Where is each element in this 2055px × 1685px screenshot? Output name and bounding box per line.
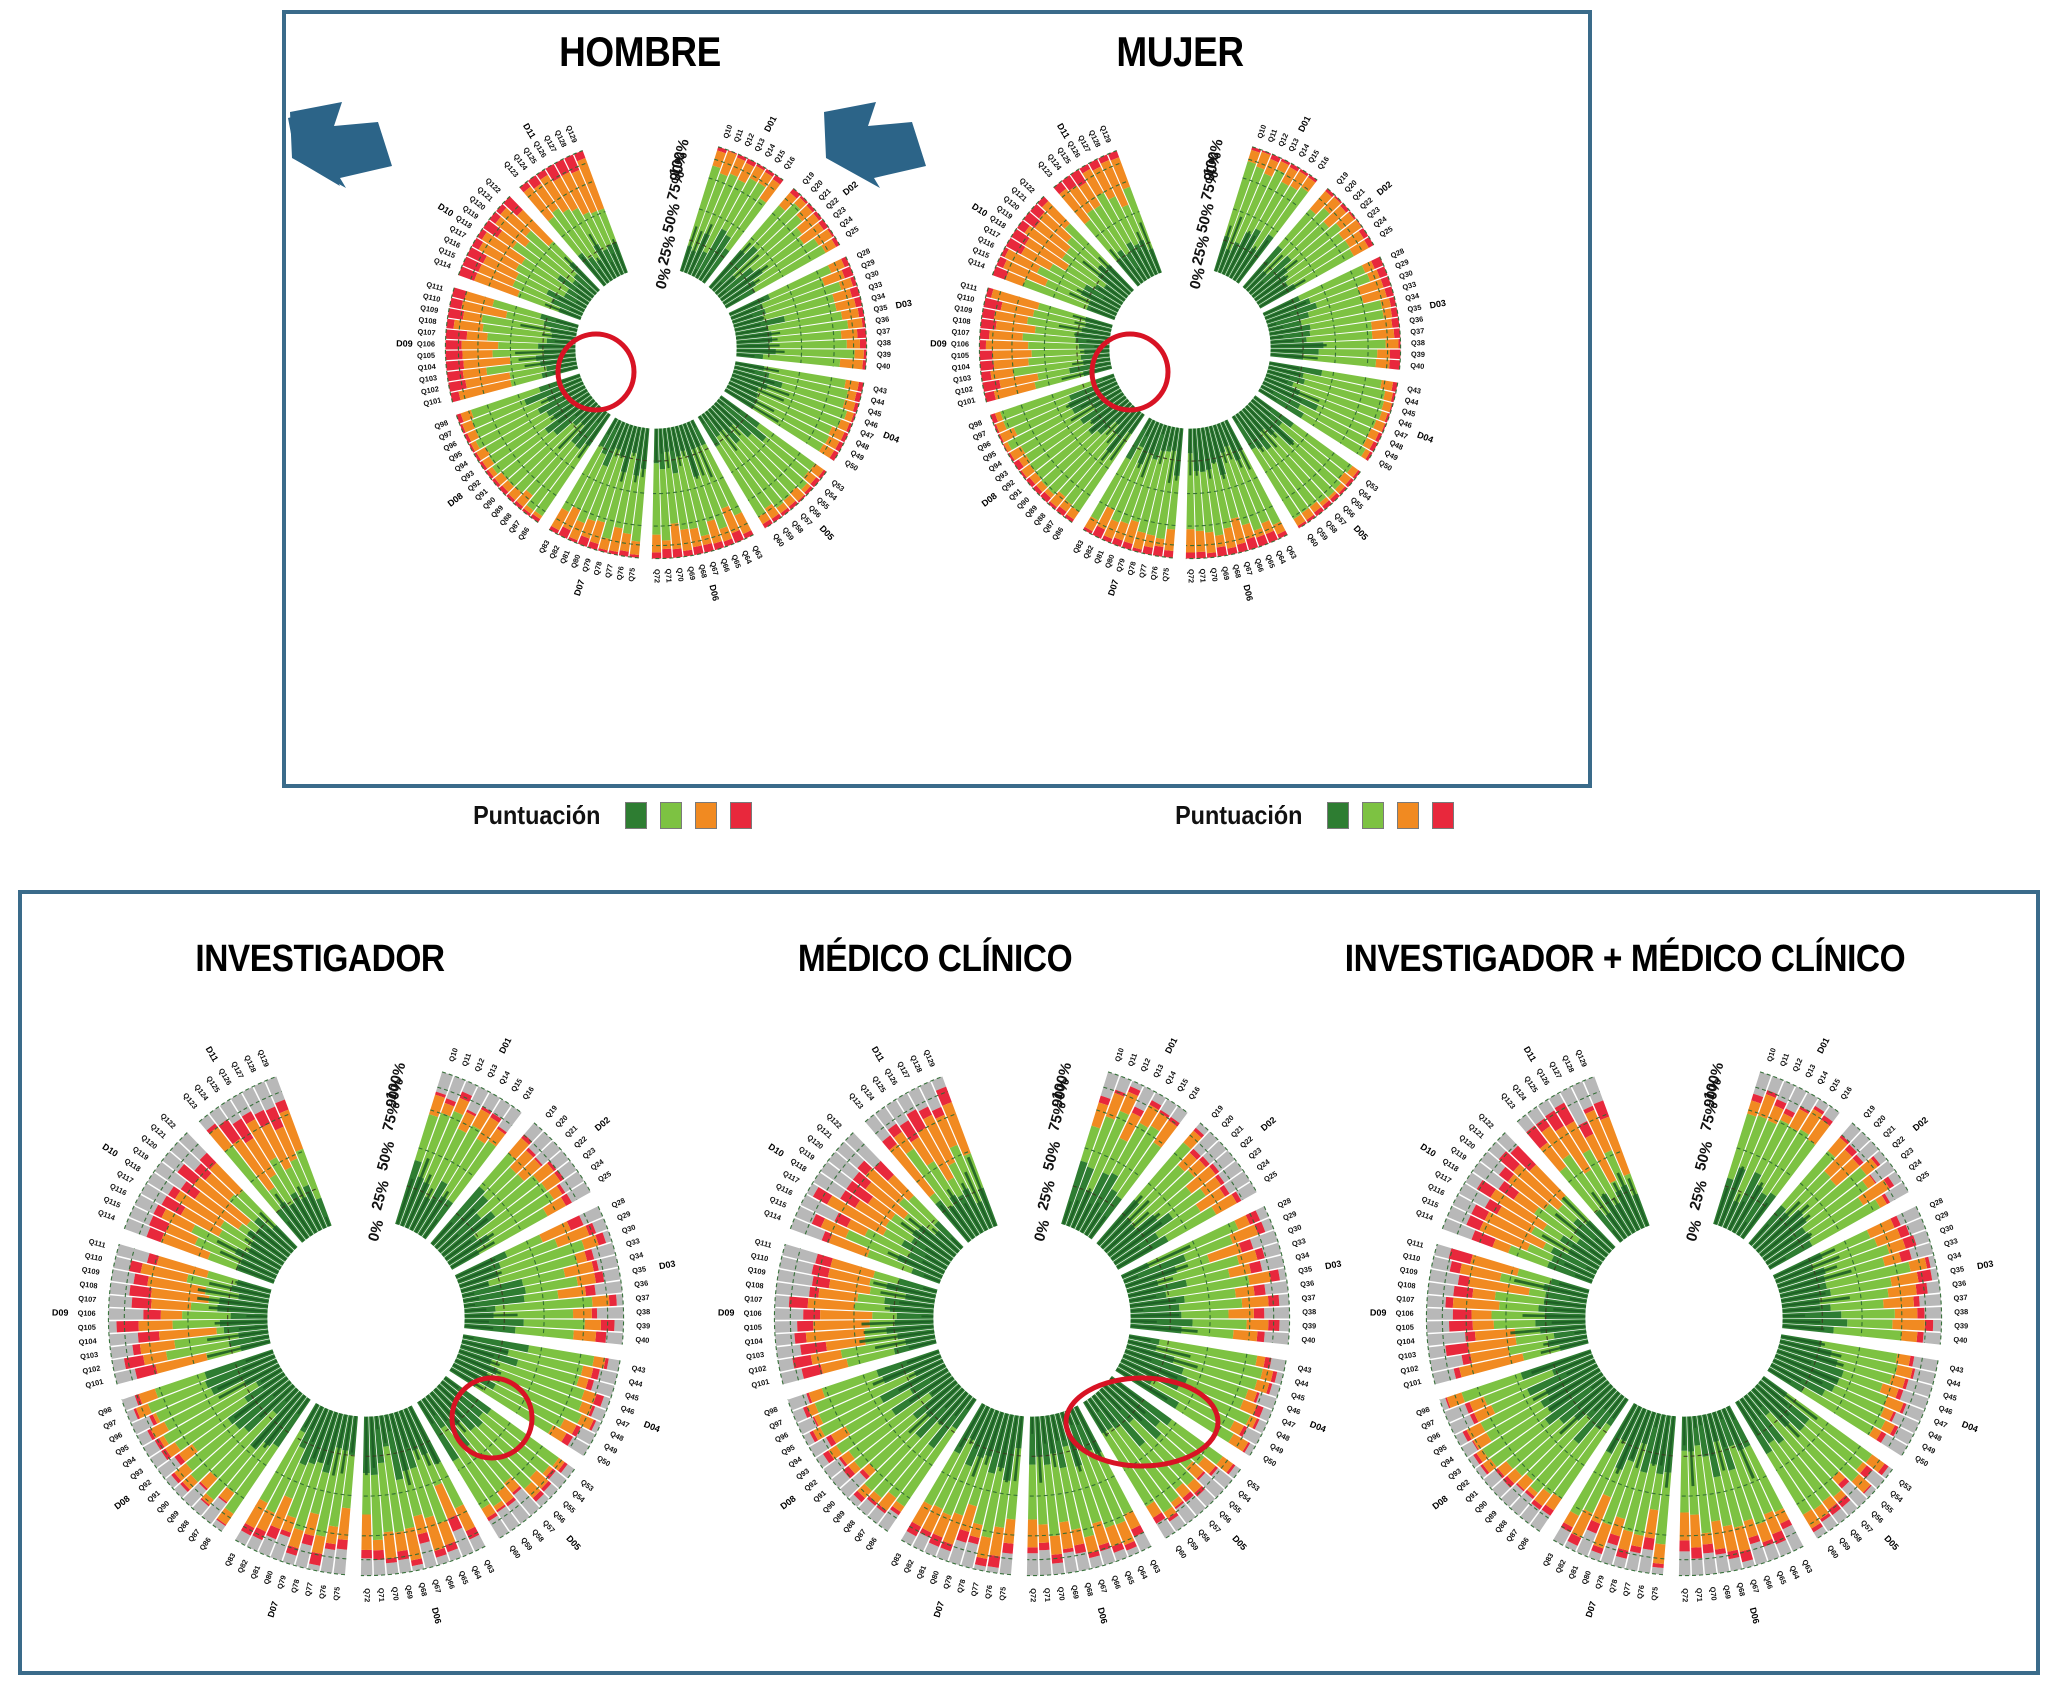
question-label: Q65 — [1123, 1569, 1136, 1585]
question-label: Q44 — [1404, 395, 1421, 407]
question-label: Q34 — [628, 1250, 644, 1262]
question-label: Q104 — [744, 1336, 764, 1347]
domain-label: D11 — [870, 1045, 887, 1064]
domain-label: D07 — [572, 578, 587, 597]
domain-label: D02 — [1375, 179, 1394, 197]
question-label: Q75 — [1161, 567, 1171, 582]
question-label: Q92 — [1455, 1477, 1472, 1493]
radial-chart-svg: Q10Q11Q12Q13Q14Q15Q16Q19Q20Q21Q22Q23Q24Q… — [1366, 1000, 2002, 1636]
question-label: Q115 — [102, 1194, 122, 1209]
question-label: Q49 — [1268, 1441, 1285, 1456]
question-label: Q65 — [457, 1569, 470, 1585]
radial-chart-svg: Q10Q11Q12Q13Q14Q15Q16Q19Q20Q21Q22Q23Q24Q… — [48, 1000, 684, 1636]
question-label: Q25 — [1262, 1169, 1279, 1184]
question-label: Q79 — [275, 1574, 288, 1590]
domain-label: D07 — [1584, 1600, 1599, 1619]
question-label: Q72 — [1681, 1588, 1690, 1602]
question-label: Q64 — [1136, 1564, 1150, 1581]
question-label: Q20 — [553, 1113, 569, 1129]
question-label: Q89 — [1483, 1509, 1499, 1525]
question-label: Q45 — [1401, 406, 1417, 419]
question-label: Q107 — [417, 327, 436, 337]
question-label: Q89 — [831, 1509, 847, 1525]
question-label: Q49 — [602, 1441, 619, 1456]
question-label: Q35 — [1297, 1264, 1312, 1275]
question-label: Q117 — [1433, 1169, 1453, 1186]
question-label: Q55 — [1879, 1499, 1895, 1515]
question-label: Q105 — [417, 351, 435, 361]
radial-axis-tick: 50% — [1692, 1139, 1717, 1173]
question-label: Q98 — [1415, 1405, 1431, 1418]
question-label: Q34 — [1294, 1250, 1310, 1262]
radial-axis-tick: 50% — [374, 1139, 399, 1173]
domain-label: D02 — [841, 179, 860, 197]
question-label: Q30 — [864, 268, 880, 281]
question-label: Q19 — [1861, 1103, 1877, 1119]
question-label: Q36 — [1409, 314, 1424, 325]
question-label: Q106 — [744, 1309, 762, 1318]
question-label: Q23 — [1247, 1145, 1264, 1161]
question-label: Q109 — [420, 303, 439, 315]
question-label: Q22 — [1890, 1134, 1907, 1150]
question-label: Q39 — [1954, 1321, 1968, 1330]
question-label: Q90 — [821, 1499, 837, 1515]
question-label: Q107 — [78, 1294, 97, 1304]
question-label: Q101 — [423, 395, 443, 408]
question-label: Q66 — [1110, 1574, 1123, 1590]
question-label: Q66 — [1762, 1574, 1775, 1590]
question-label: Q77 — [1137, 563, 1149, 579]
question-label: Q78 — [592, 561, 604, 577]
question-label: Q91 — [1463, 1488, 1479, 1504]
question-label: Q36 — [1300, 1278, 1315, 1289]
question-label: Q70 — [1056, 1586, 1066, 1601]
domain-label: D06 — [707, 584, 721, 602]
domain-label: D04 — [1960, 1419, 1979, 1434]
question-label: Q102 — [82, 1363, 101, 1375]
domain-label: D11 — [1055, 121, 1072, 140]
question-label: Q53 — [1897, 1477, 1914, 1493]
question-label: Q72 — [653, 569, 662, 583]
question-label: Q23 — [581, 1145, 598, 1161]
question-label: Q108 — [745, 1279, 764, 1290]
question-label: Q68 — [1083, 1582, 1095, 1598]
radial-axis-tick: 50% — [1193, 201, 1218, 235]
question-label: Q96 — [773, 1430, 790, 1444]
question-label: Q93 — [1446, 1466, 1463, 1481]
question-label: Q19 — [1209, 1103, 1225, 1119]
radial-chart-svg: Q10Q11Q12Q13Q14Q15Q16Q19Q20Q21Q22Q23Q24Q… — [930, 88, 1450, 608]
question-label: Q78 — [1607, 1578, 1619, 1594]
question-label: Q106 — [1396, 1309, 1414, 1318]
question-label: Q12 — [1791, 1057, 1805, 1073]
question-label: Q64 — [470, 1564, 484, 1581]
question-label: Q39 — [1302, 1321, 1316, 1330]
question-label: Q95 — [780, 1443, 797, 1458]
radial-axis-tick: 25% — [655, 234, 680, 268]
question-label: Q46 — [1285, 1403, 1301, 1416]
legend-swatch-light-green — [660, 802, 682, 829]
question-label: Q128 — [242, 1054, 258, 1074]
question-label: Q127 — [895, 1060, 911, 1080]
question-label: Q55 — [1227, 1499, 1243, 1515]
question-label: Q67 — [1097, 1578, 1109, 1594]
question-label: Q82 — [901, 1558, 915, 1575]
question-label: Q72 — [363, 1588, 372, 1602]
question-label: Q104 — [1396, 1336, 1416, 1347]
question-label: Q104 — [78, 1336, 98, 1347]
question-label: Q60 — [1826, 1543, 1841, 1560]
question-label: Q23 — [1899, 1145, 1916, 1161]
domain-label: D10 — [970, 201, 989, 218]
question-label: Q28 — [1928, 1196, 1944, 1210]
question-label: Q54 — [1888, 1488, 1905, 1504]
question-label: Q24 — [1255, 1157, 1272, 1173]
question-label: Q30 — [1939, 1222, 1955, 1235]
question-label: Q28 — [610, 1196, 626, 1210]
domain-label: D01 — [1815, 1036, 1831, 1055]
question-label: Q96 — [107, 1430, 124, 1444]
question-label: Q103 — [80, 1350, 99, 1361]
circular-chart-medico-clinico[interactable]: Q10Q11Q12Q13Q14Q15Q16Q19Q20Q21Q22Q23Q24Q… — [714, 1000, 1350, 1636]
question-label: Q80 — [262, 1569, 275, 1585]
domain-label: D01 — [1163, 1036, 1179, 1055]
question-label: Q11 — [1778, 1052, 1791, 1068]
domain-label: D09 — [930, 338, 947, 348]
question-label: Q54 — [570, 1488, 587, 1504]
domain-label: D01 — [762, 114, 778, 133]
question-label: Q59 — [1185, 1536, 1200, 1553]
question-label: Q13 — [1803, 1063, 1817, 1080]
question-label: Q129 — [256, 1048, 271, 1068]
question-label: Q71 — [1042, 1588, 1052, 1602]
question-label: Q68 — [1231, 563, 1243, 579]
question-label: Q76 — [1149, 566, 1160, 581]
question-label: Q65 — [1775, 1569, 1788, 1585]
question-label: Q79 — [1593, 1574, 1606, 1590]
radial-axis-tick: 50% — [659, 201, 684, 235]
domain-label: D05 — [564, 1533, 583, 1552]
question-label: Q79 — [580, 557, 593, 573]
question-label: Q14 — [1163, 1069, 1178, 1086]
question-label: Q88 — [1493, 1518, 1509, 1534]
question-label: Q24 — [1907, 1157, 1924, 1173]
domain-label: D04 — [1416, 430, 1435, 445]
question-label: Q107 — [951, 327, 970, 337]
question-label: Q91 — [145, 1488, 161, 1504]
circular-chart-investigador-medico[interactable]: Q10Q11Q12Q13Q14Q15Q16Q19Q20Q21Q22Q23Q24Q… — [1366, 1000, 2002, 1636]
question-label: Q16 — [1838, 1085, 1853, 1102]
question-label: Q20 — [1871, 1113, 1887, 1129]
domain-label: D04 — [882, 430, 901, 445]
question-label: Q105 — [744, 1323, 762, 1333]
question-label: Q58 — [1196, 1527, 1212, 1544]
question-label: Q116 — [774, 1181, 794, 1197]
chart-center-hole — [575, 267, 736, 428]
question-label: Q82 — [1553, 1558, 1567, 1575]
question-label: Q40 — [1410, 361, 1425, 371]
question-label: Q67 — [431, 1578, 443, 1594]
question-label: Q95 — [114, 1443, 131, 1458]
question-label: Q129 — [922, 1048, 937, 1068]
domain-label: D08 — [446, 491, 465, 509]
question-label: Q63 — [482, 1558, 496, 1575]
question-label: Q29 — [1934, 1209, 1950, 1222]
question-label: Q33 — [867, 280, 883, 292]
question-label: Q106 — [951, 339, 969, 348]
question-label: Q86 — [198, 1536, 213, 1553]
question-label: Q101 — [957, 395, 977, 408]
question-label: Q38 — [636, 1307, 650, 1316]
question-label: Q104 — [951, 362, 971, 373]
legend-hombre: Puntuación — [466, 800, 752, 831]
question-label: Q123 — [847, 1091, 865, 1111]
question-label: Q29 — [1282, 1209, 1298, 1222]
question-label: Q45 — [1290, 1390, 1306, 1403]
question-label: Q34 — [1946, 1250, 1962, 1262]
question-label: Q72 — [1187, 569, 1196, 583]
question-label: Q14 — [497, 1069, 512, 1086]
question-label: Q57 — [1207, 1518, 1223, 1534]
legend-swatch-light-green — [1362, 802, 1384, 829]
question-label: Q35 — [1949, 1264, 1964, 1275]
question-label: Q87 — [186, 1527, 202, 1544]
domain-label: D04 — [1308, 1419, 1327, 1434]
question-label: Q105 — [951, 351, 969, 361]
domain-label: D03 — [1324, 1259, 1342, 1272]
question-label: Q127 — [229, 1060, 245, 1080]
question-label: Q39 — [1411, 350, 1425, 359]
domain-label: D08 — [980, 491, 999, 509]
question-label: Q110 — [750, 1251, 769, 1264]
question-label: Q47 — [1932, 1416, 1948, 1430]
question-label: Q40 — [635, 1335, 650, 1345]
domain-label: D05 — [1230, 1533, 1249, 1552]
question-label: Q34 — [870, 291, 886, 303]
question-label: Q43 — [1406, 384, 1421, 395]
question-label: Q58 — [1848, 1527, 1864, 1544]
domain-label: D10 — [767, 1141, 786, 1158]
question-label: Q57 — [541, 1518, 557, 1534]
legend-title: Puntuación — [1175, 800, 1302, 831]
question-label: Q129 — [1574, 1048, 1589, 1068]
question-label: Q111 — [1406, 1237, 1425, 1250]
domain-label: D11 — [521, 121, 538, 140]
circular-chart-investigador[interactable]: Q10Q11Q12Q13Q14Q15Q16Q19Q20Q21Q22Q23Q24Q… — [48, 1000, 684, 1636]
domain-label: D09 — [396, 338, 413, 348]
domain-label: D01 — [1296, 114, 1312, 133]
question-label: Q97 — [102, 1418, 118, 1432]
question-label: Q37 — [1953, 1293, 1968, 1303]
question-label: Q103 — [952, 373, 971, 384]
legend-swatch-dark-green — [1327, 802, 1349, 829]
question-label: Q44 — [628, 1377, 645, 1389]
question-label: Q48 — [609, 1429, 625, 1443]
domain-label: D06 — [1748, 1606, 1762, 1624]
question-label: Q45 — [867, 406, 883, 419]
question-label: Q70 — [1708, 1586, 1718, 1601]
question-label: Q37 — [1301, 1293, 1316, 1303]
question-label: Q66 — [1253, 557, 1266, 573]
domain-label: D09 — [718, 1308, 735, 1318]
domain-label: D11 — [204, 1045, 221, 1064]
radial-axis-tick: 25% — [1189, 234, 1214, 268]
question-label: Q56 — [1869, 1509, 1885, 1525]
question-label: Q102 — [954, 384, 973, 396]
chart-center-hole — [267, 1219, 464, 1416]
question-label: Q33 — [1401, 280, 1417, 292]
question-label: Q69 — [1070, 1584, 1081, 1599]
question-label: Q110 — [422, 291, 441, 304]
domain-label: D02 — [1259, 1115, 1278, 1133]
question-label: Q53 — [1245, 1477, 1262, 1493]
question-label: Q91 — [811, 1488, 827, 1504]
question-label: Q115 — [768, 1194, 788, 1209]
question-label: Q75 — [1649, 1586, 1659, 1601]
question-label: Q40 — [1953, 1335, 1968, 1345]
question-label: Q60 — [1174, 1543, 1189, 1560]
question-label: Q12 — [1139, 1057, 1153, 1073]
question-label: Q19 — [543, 1103, 559, 1119]
legend-swatch-orange — [695, 802, 717, 829]
question-label: Q76 — [1635, 1584, 1646, 1599]
question-label: Q76 — [317, 1584, 328, 1599]
question-label: Q24 — [589, 1157, 606, 1173]
question-label: Q98 — [763, 1405, 779, 1418]
question-label: Q45 — [1942, 1390, 1958, 1403]
legend-swatch-dark-green — [625, 802, 647, 829]
question-label: Q60 — [508, 1543, 523, 1560]
chart-title-hombre: HOMBRE — [482, 28, 799, 76]
domain-label: D05 — [817, 523, 836, 542]
question-label: Q109 — [747, 1265, 766, 1277]
question-label: Q68 — [417, 1582, 429, 1598]
question-label: Q36 — [875, 314, 890, 325]
question-label: Q33 — [1943, 1236, 1959, 1248]
question-label: Q48 — [1927, 1429, 1943, 1443]
question-label: Q37 — [876, 326, 891, 336]
question-label: Q95 — [1432, 1443, 1449, 1458]
question-label: Q45 — [624, 1390, 640, 1403]
question-label: Q111 — [754, 1237, 773, 1250]
circular-chart-mujer[interactable]: Q10Q11Q12Q13Q14Q15Q16Q19Q20Q21Q22Q23Q24Q… — [930, 88, 1450, 608]
question-label: Q87 — [852, 1527, 868, 1544]
question-label: Q88 — [175, 1518, 191, 1534]
question-label: Q103 — [418, 373, 437, 384]
question-label: Q90 — [155, 1499, 171, 1515]
question-label: Q102 — [1400, 1363, 1419, 1375]
question-label: Q114 — [1415, 1208, 1436, 1223]
question-label: Q14 — [1815, 1069, 1830, 1086]
question-label: Q10 — [447, 1047, 460, 1063]
question-label: Q16 — [1186, 1085, 1201, 1102]
question-label: Q39 — [636, 1321, 650, 1330]
question-label: Q15 — [1827, 1077, 1842, 1094]
question-label: Q93 — [794, 1466, 811, 1481]
legend-title: Puntuación — [473, 800, 600, 831]
question-label: Q101 — [1403, 1377, 1423, 1390]
question-label: Q110 — [956, 291, 975, 304]
question-label: Q67 — [1242, 561, 1254, 577]
question-label: Q28 — [1276, 1196, 1292, 1210]
question-label: Q76 — [615, 566, 626, 581]
legend-swatch-red — [730, 802, 752, 829]
question-label: Q108 — [418, 315, 437, 326]
radial-chart-svg: Q10Q11Q12Q13Q14Q15Q16Q19Q20Q21Q22Q23Q24Q… — [396, 88, 916, 608]
domain-label: D08 — [1430, 1494, 1449, 1512]
question-label: Q10 — [1113, 1047, 1126, 1063]
domain-label: D06 — [1241, 584, 1255, 602]
question-label: Q77 — [303, 1582, 315, 1598]
chart-title-medico-clinico: MÉDICO CLÍNICO — [746, 938, 1124, 981]
question-label: Q101 — [751, 1377, 771, 1390]
question-label: Q96 — [1425, 1430, 1442, 1444]
question-label: Q55 — [561, 1499, 577, 1515]
question-label: Q111 — [425, 280, 444, 293]
question-label: Q116 — [1426, 1181, 1446, 1197]
question-label: Q13 — [485, 1063, 499, 1080]
question-label: Q35 — [873, 303, 888, 314]
question-label: Q128 — [908, 1054, 924, 1074]
question-label: Q114 — [97, 1208, 118, 1223]
radial-axis-tick: 25% — [1034, 1179, 1059, 1213]
question-label: Q43 — [872, 384, 887, 395]
question-label: Q15 — [1175, 1077, 1190, 1094]
question-label: Q104 — [417, 362, 437, 373]
domain-label: D05 — [1882, 1533, 1901, 1552]
question-label: Q77 — [969, 1582, 981, 1598]
question-label: Q59 — [519, 1536, 534, 1553]
domain-label: D07 — [932, 1600, 947, 1619]
question-label: Q80 — [928, 1569, 941, 1585]
question-label: Q127 — [1547, 1060, 1563, 1080]
domain-label: D02 — [1911, 1115, 1930, 1133]
question-label: Q79 — [941, 1574, 954, 1590]
question-label: Q108 — [1397, 1279, 1416, 1290]
question-label: Q47 — [1280, 1416, 1296, 1430]
question-label: Q59 — [1837, 1536, 1852, 1553]
question-label: Q94 — [121, 1454, 138, 1469]
question-label: Q116 — [108, 1181, 128, 1197]
question-label: Q76 — [983, 1584, 994, 1599]
question-label: Q46 — [1937, 1403, 1953, 1416]
question-label: Q40 — [876, 361, 891, 371]
question-label: Q56 — [1217, 1509, 1233, 1525]
radial-axis-tick: 25% — [1686, 1179, 1711, 1213]
question-label: Q56 — [551, 1509, 567, 1525]
question-label: Q21 — [1229, 1123, 1245, 1139]
circular-chart-hombre[interactable]: Q10Q11Q12Q13Q14Q15Q16Q19Q20Q21Q22Q23Q24Q… — [396, 88, 916, 608]
domain-label: D08 — [112, 1494, 131, 1512]
question-label: Q70 — [675, 567, 685, 582]
question-label: Q29 — [616, 1209, 632, 1222]
domain-label: D08 — [778, 1494, 797, 1512]
domain-label: D11 — [1522, 1045, 1539, 1064]
domain-label: D06 — [1096, 1606, 1110, 1624]
question-label: Q22 — [1238, 1134, 1255, 1150]
radial-axis-tick: 50% — [1040, 1139, 1065, 1173]
domain-label: D03 — [658, 1259, 676, 1272]
question-label: Q43 — [1297, 1363, 1312, 1374]
question-label: Q101 — [85, 1377, 105, 1390]
radial-chart-svg: Q10Q11Q12Q13Q14Q15Q16Q19Q20Q21Q22Q23Q24Q… — [714, 1000, 1350, 1636]
question-label: Q68 — [1735, 1582, 1747, 1598]
question-label: Q53 — [579, 1477, 596, 1493]
question-label: Q86 — [864, 1536, 879, 1553]
question-label: Q115 — [1420, 1194, 1440, 1209]
chart-center-hole — [1585, 1219, 1782, 1416]
question-label: Q103 — [746, 1350, 765, 1361]
